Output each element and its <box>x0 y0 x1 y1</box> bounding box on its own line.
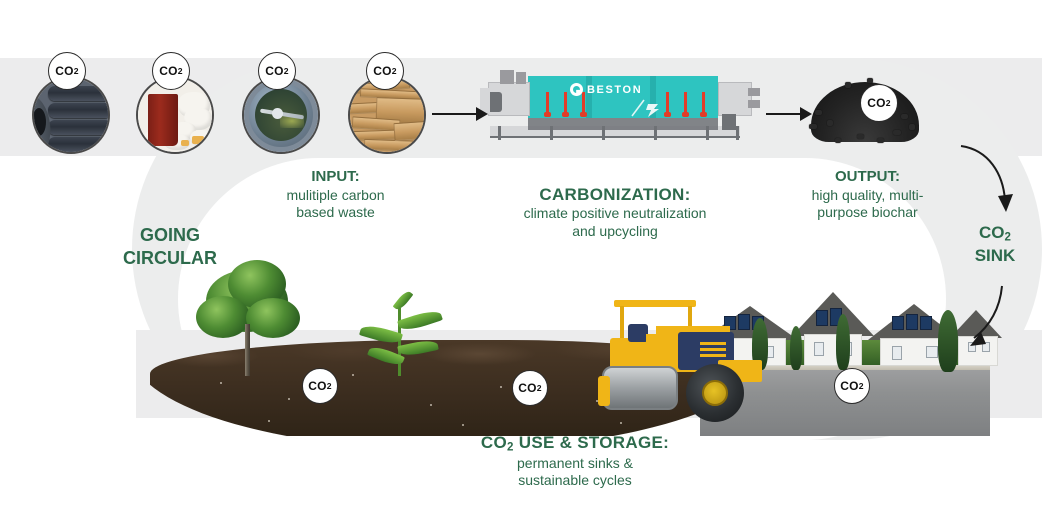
co2-badge-wood: CO2 <box>366 52 404 90</box>
label-co2-use-storage-heading: CO2 USE & STORAGE: <box>410 432 740 455</box>
co2-badge-sub: 2 <box>537 383 542 393</box>
conifer-tree <box>938 310 958 372</box>
label-co2-sink-prefix: CO <box>979 223 1005 242</box>
co2-badge-text: CO <box>840 379 858 393</box>
co2-badge-sub: 2 <box>859 381 864 391</box>
co2-badge-roller: CO2 <box>512 370 548 406</box>
arrow-sink-in-icon <box>955 140 1021 218</box>
label-co2-sink-line1: CO2 <box>955 222 1035 245</box>
label-input: INPUT: mulitiple carbon based waste <box>243 168 428 222</box>
arrow-machine-to-output-icon <box>766 104 812 124</box>
label-going-circular-line1: GOING <box>100 224 240 247</box>
co2-badge-sub: 2 <box>178 66 183 76</box>
carbonization-machine: BESTON <box>480 62 760 158</box>
label-co2-use-storage-line1: permanent sinks & <box>410 455 740 473</box>
label-output-line2: purpose biochar <box>775 204 960 222</box>
label-carbonization-heading: CARBONIZATION: <box>477 184 753 205</box>
label-input-line2: based waste <box>243 204 428 222</box>
co2-badge-sub: 2 <box>392 66 397 76</box>
label-carbonization-line1: climate positive neutralization <box>477 205 753 223</box>
co2-badge-soil: CO2 <box>302 368 338 404</box>
label-bottom-suffix: USE & STORAGE: <box>514 433 669 452</box>
co2-badge-sludge: CO2 <box>258 52 296 90</box>
co2-badge-text: CO <box>373 64 391 78</box>
infographic-canvas: CO2 CO2 CO2 <box>0 0 1042 508</box>
label-co2-use-storage-line2: sustainable cycles <box>410 472 740 490</box>
beston-brand-label: BESTON <box>587 84 642 96</box>
label-output-heading: OUTPUT: <box>775 168 960 187</box>
co2-badge-sub: 2 <box>886 98 891 108</box>
co2-badge-plastic: CO2 <box>152 52 190 90</box>
label-co2-sink-sub: 2 <box>1005 231 1011 243</box>
label-output-line1: high quality, multi- <box>775 187 960 205</box>
co2-badge-sub: 2 <box>327 381 332 391</box>
co2-badge-text: CO <box>867 96 885 110</box>
co2-badge-houses: CO2 <box>834 368 870 404</box>
label-carbonization-line2: and upcycling <box>477 223 753 241</box>
co2-badge-sub: 2 <box>74 66 79 76</box>
label-co2-use-storage: CO2 USE & STORAGE: permanent sinks & sus… <box>410 432 740 490</box>
co2-badge-text: CO <box>265 64 283 78</box>
label-co2-sink: CO2 SINK <box>955 222 1035 267</box>
conifer-tree <box>836 314 850 370</box>
co2-badge-sub: 2 <box>284 66 289 76</box>
label-going-circular: GOING CIRCULAR <box>100 224 240 271</box>
co2-badge-text: CO <box>518 381 536 395</box>
label-bottom-sub: 2 <box>507 441 514 453</box>
label-input-line1: mulitiple carbon <box>243 187 428 205</box>
co2-badge-tires: CO2 <box>48 52 86 90</box>
co2-badge-text: CO <box>308 379 326 393</box>
arrow-input-to-machine-icon <box>432 104 488 124</box>
co2-badge-biochar: CO2 <box>860 84 898 122</box>
co2-badge-text: CO <box>55 64 73 78</box>
arrow-sink-out-icon <box>958 282 1018 354</box>
label-output: OUTPUT: high quality, multi- purpose bio… <box>775 168 960 222</box>
co2-use-and-storage-scene: CO2 CO2 CO2 <box>0 262 1042 440</box>
label-input-heading: INPUT: <box>243 168 428 187</box>
label-carbonization: CARBONIZATION: climate positive neutrali… <box>477 184 753 240</box>
label-bottom-prefix: CO <box>481 433 507 452</box>
co2-badge-text: CO <box>159 64 177 78</box>
machine-center-glyph-icon <box>630 98 664 118</box>
label-co2-sink-line2: SINK <box>955 245 1035 267</box>
beston-logo-mark-icon <box>570 83 583 96</box>
label-going-circular-line2: CIRCULAR <box>100 247 240 270</box>
conifer-tree <box>790 326 802 370</box>
road-roller <box>600 282 790 432</box>
